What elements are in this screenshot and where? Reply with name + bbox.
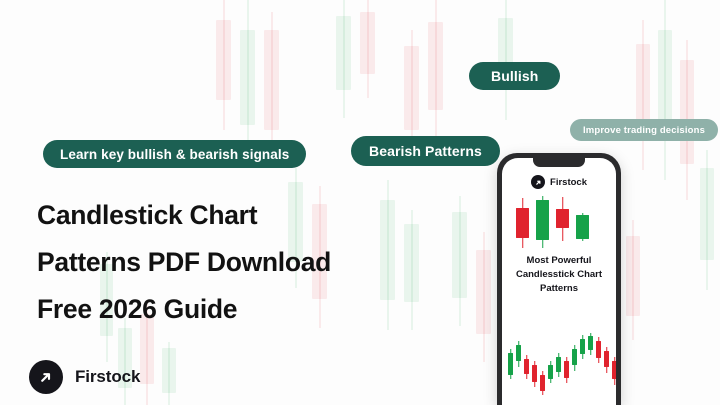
phone-notch bbox=[533, 158, 585, 167]
background-candle-down bbox=[360, 0, 375, 98]
candle-down bbox=[532, 361, 537, 387]
candle-down bbox=[556, 197, 569, 241]
candle-up bbox=[516, 341, 521, 367]
candle-down bbox=[516, 198, 529, 248]
candle-up bbox=[588, 333, 593, 355]
background-candle-up bbox=[700, 150, 714, 290]
candle-down bbox=[564, 357, 569, 383]
phone-screen: Firstock Most Powerful Candlesstick Char… bbox=[502, 158, 616, 405]
background-candle-down bbox=[626, 220, 640, 340]
candle-down bbox=[540, 371, 545, 395]
background-candle-up bbox=[498, 0, 513, 120]
candle-up bbox=[572, 345, 577, 371]
background-candle-down bbox=[428, 0, 443, 140]
background-candle-up bbox=[162, 342, 176, 405]
banner-root: Learn key bullish & bearish signals Bull… bbox=[0, 0, 720, 405]
pill-bullish[interactable]: Bullish bbox=[469, 62, 560, 90]
phone-brand-name: Firstock bbox=[550, 177, 587, 188]
background-candle-up bbox=[404, 210, 419, 330]
background-candle-down bbox=[636, 20, 650, 170]
background-candle-up bbox=[452, 196, 467, 326]
candle-down bbox=[604, 347, 609, 373]
candle-down bbox=[596, 337, 601, 363]
candle-up bbox=[556, 353, 561, 377]
candle-up bbox=[576, 213, 589, 241]
firstock-arrow-icon bbox=[29, 360, 63, 394]
phone-caption: Most Powerful Candlesstick Chart Pattern… bbox=[508, 254, 610, 296]
page-title-line-3: Free 2026 Guide bbox=[37, 286, 331, 333]
phone-brand-lockup: Firstock bbox=[502, 175, 616, 189]
pill-bearish-patterns[interactable]: Bearish Patterns bbox=[351, 136, 500, 166]
background-candle-up bbox=[336, 0, 351, 118]
phone-mockup: Firstock Most Powerful Candlesstick Char… bbox=[497, 153, 621, 405]
page-title-line-2: Patterns PDF Download bbox=[37, 239, 331, 286]
background-candle-up bbox=[658, 0, 672, 180]
brand-name: Firstock bbox=[75, 367, 140, 387]
candle-up bbox=[580, 335, 585, 359]
page-title-line-1: Candlestick Chart bbox=[37, 192, 331, 239]
page-title: Candlestick Chart Patterns PDF Download … bbox=[37, 192, 331, 333]
phone-candlestick-chart bbox=[506, 331, 612, 399]
candle-down bbox=[612, 357, 616, 385]
firstock-arrow-icon bbox=[531, 175, 545, 189]
phone-caption-line-1: Most Powerful bbox=[508, 254, 610, 268]
background-candle-down bbox=[476, 232, 491, 362]
background-candle-up bbox=[240, 0, 255, 160]
brand-lockup: Firstock bbox=[29, 360, 140, 394]
pill-learn-signals[interactable]: Learn key bullish & bearish signals bbox=[43, 140, 306, 168]
pill-improve-trading-decisions[interactable]: Improve trading decisions bbox=[570, 119, 718, 141]
candle-up bbox=[548, 361, 553, 383]
phone-hero-candles bbox=[502, 196, 616, 248]
background-candle-up bbox=[380, 180, 395, 330]
background-candle-down bbox=[216, 0, 231, 130]
candle-up bbox=[508, 349, 513, 379]
phone-caption-line-3: Patterns bbox=[508, 282, 610, 296]
phone-caption-line-2: Candlesstick Chart bbox=[508, 268, 610, 282]
candle-down bbox=[524, 355, 529, 379]
candle-up bbox=[536, 196, 549, 248]
